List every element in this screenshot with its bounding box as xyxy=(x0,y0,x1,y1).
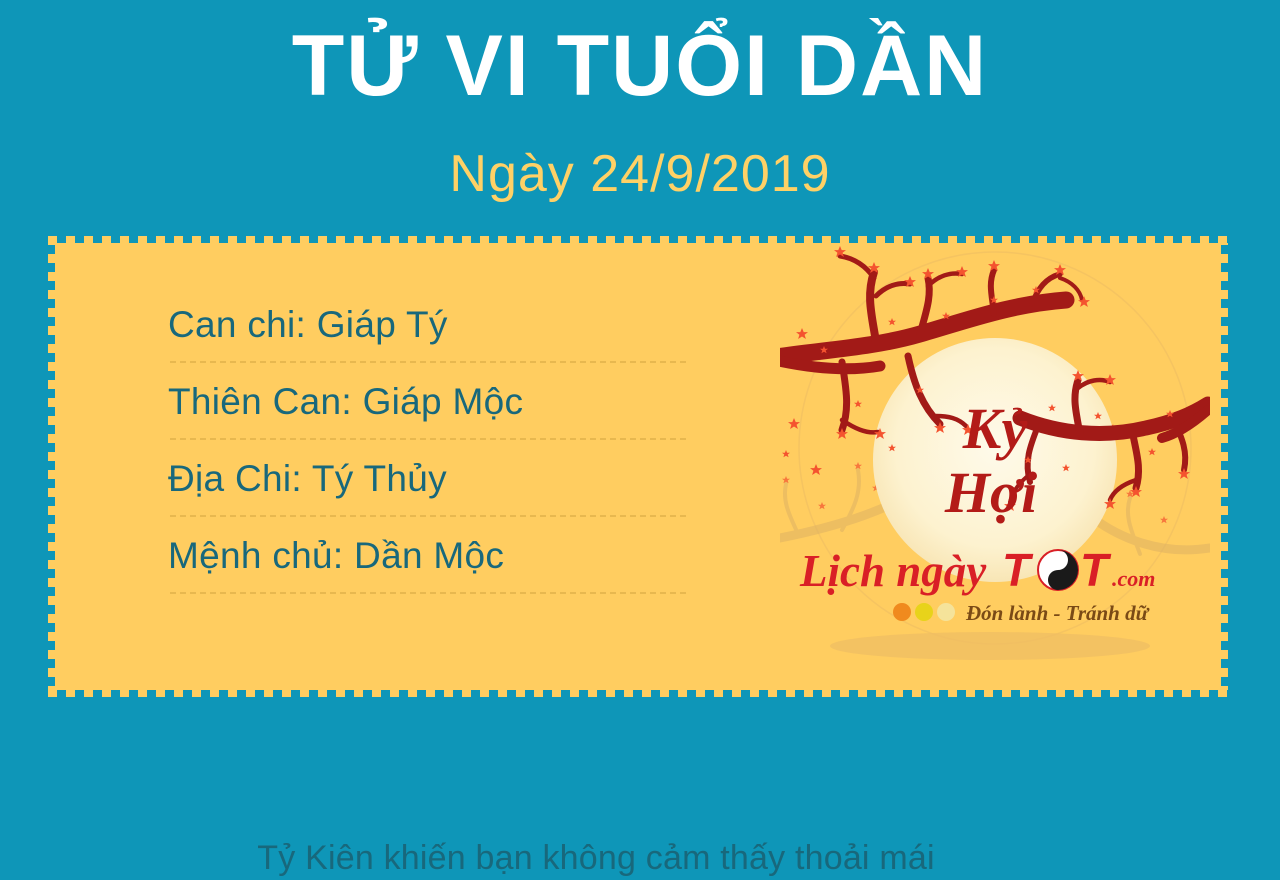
info-row-list: Can chi: Giáp Tý Thiên Can: Giáp Mộc Địa… xyxy=(168,286,668,594)
svg-text:T: T xyxy=(1002,544,1034,596)
info-row-text: Địa Chi: Tý Thủy xyxy=(168,458,447,500)
svg-text:Hợi: Hợi xyxy=(944,460,1037,525)
row-divider xyxy=(170,592,686,594)
info-panel: Can chi: Giáp Tý Thiên Can: Giáp Mộc Địa… xyxy=(48,236,1228,697)
poster-header: TỬ VI TUỔI DẦN Ngày 24/9/2019 xyxy=(0,0,1280,228)
info-row: Địa Chi: Tý Thủy xyxy=(168,440,668,517)
zodiac-decoration: Kỷ Hợi Lịch ngày T T .com xyxy=(780,238,1210,693)
panel-caption: Tỷ Kiên khiến bạn không cảm thấy thoải m… xyxy=(96,836,1096,880)
page-subtitle-date: Ngày 24/9/2019 xyxy=(0,143,1280,205)
svg-text:Đón lành - Tránh dữ: Đón lành - Tránh dữ xyxy=(965,601,1150,625)
svg-text:Lịch ngày: Lịch ngày xyxy=(799,546,987,596)
info-row: Can chi: Giáp Tý xyxy=(168,286,668,363)
info-row: Thiên Can: Giáp Mộc xyxy=(168,363,668,440)
info-row-text: Can chi: Giáp Tý xyxy=(168,304,448,346)
info-row-text: Mệnh chủ: Dần Mộc xyxy=(168,535,504,577)
poster-canvas: TỬ VI TUỔI DẦN Ngày 24/9/2019 Can chi: G… xyxy=(0,0,1280,720)
info-row-text: Thiên Can: Giáp Mộc xyxy=(168,381,523,423)
brand-logo: Lịch ngày T T .com Đón lành - Tránh dữ xyxy=(799,544,1155,660)
page-title: TỬ VI TUỔI DẦN xyxy=(0,18,1280,114)
svg-text:.com: .com xyxy=(1112,566,1155,591)
svg-text:Kỷ: Kỷ xyxy=(962,396,1028,461)
svg-text:T: T xyxy=(1080,544,1112,596)
info-row: Mệnh chủ: Dần Mộc xyxy=(168,517,668,594)
